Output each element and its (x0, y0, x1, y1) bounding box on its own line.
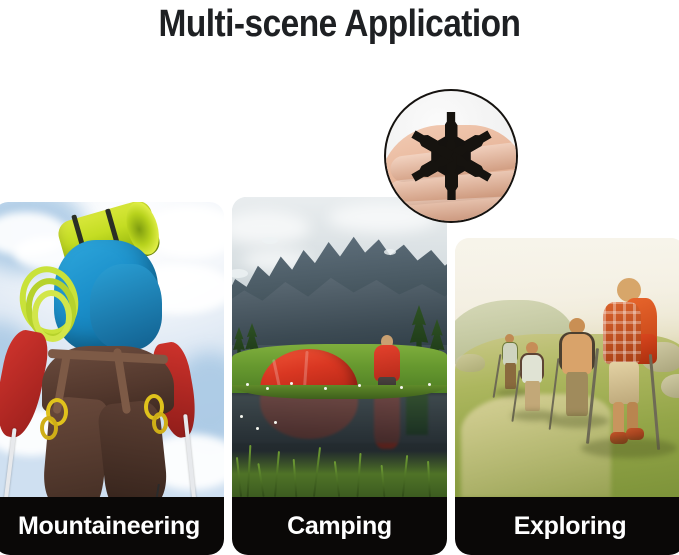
product-inset-circle[interactable] (384, 89, 518, 223)
label-bar-exploring: Exploring (455, 497, 679, 555)
label-bar-camping: Camping (232, 497, 447, 555)
panel-label-mountaineering: Mountaineering (18, 512, 200, 540)
label-bar-mountaineering: Mountaineering (0, 497, 224, 555)
panel-exploring[interactable]: Exploring (455, 238, 679, 555)
hiker-figure (517, 342, 547, 426)
panel-mountaineering[interactable]: Mountaineering (0, 202, 224, 555)
photo-camping (232, 197, 447, 497)
snowflake-multitool-icon (405, 110, 497, 202)
hiker-figure (595, 278, 657, 456)
page-title: Multi-scene Application (41, 2, 639, 46)
scene-camping-illustration (232, 197, 447, 497)
panel-label-exploring: Exploring (514, 512, 627, 540)
panel-camping[interactable]: Camping (232, 197, 447, 555)
scene-exploring-illustration (455, 238, 679, 497)
photo-mountaineering (0, 202, 224, 497)
scene-mountaineering-illustration (0, 202, 224, 497)
photo-exploring (455, 238, 679, 497)
panel-label-camping: Camping (287, 512, 392, 540)
